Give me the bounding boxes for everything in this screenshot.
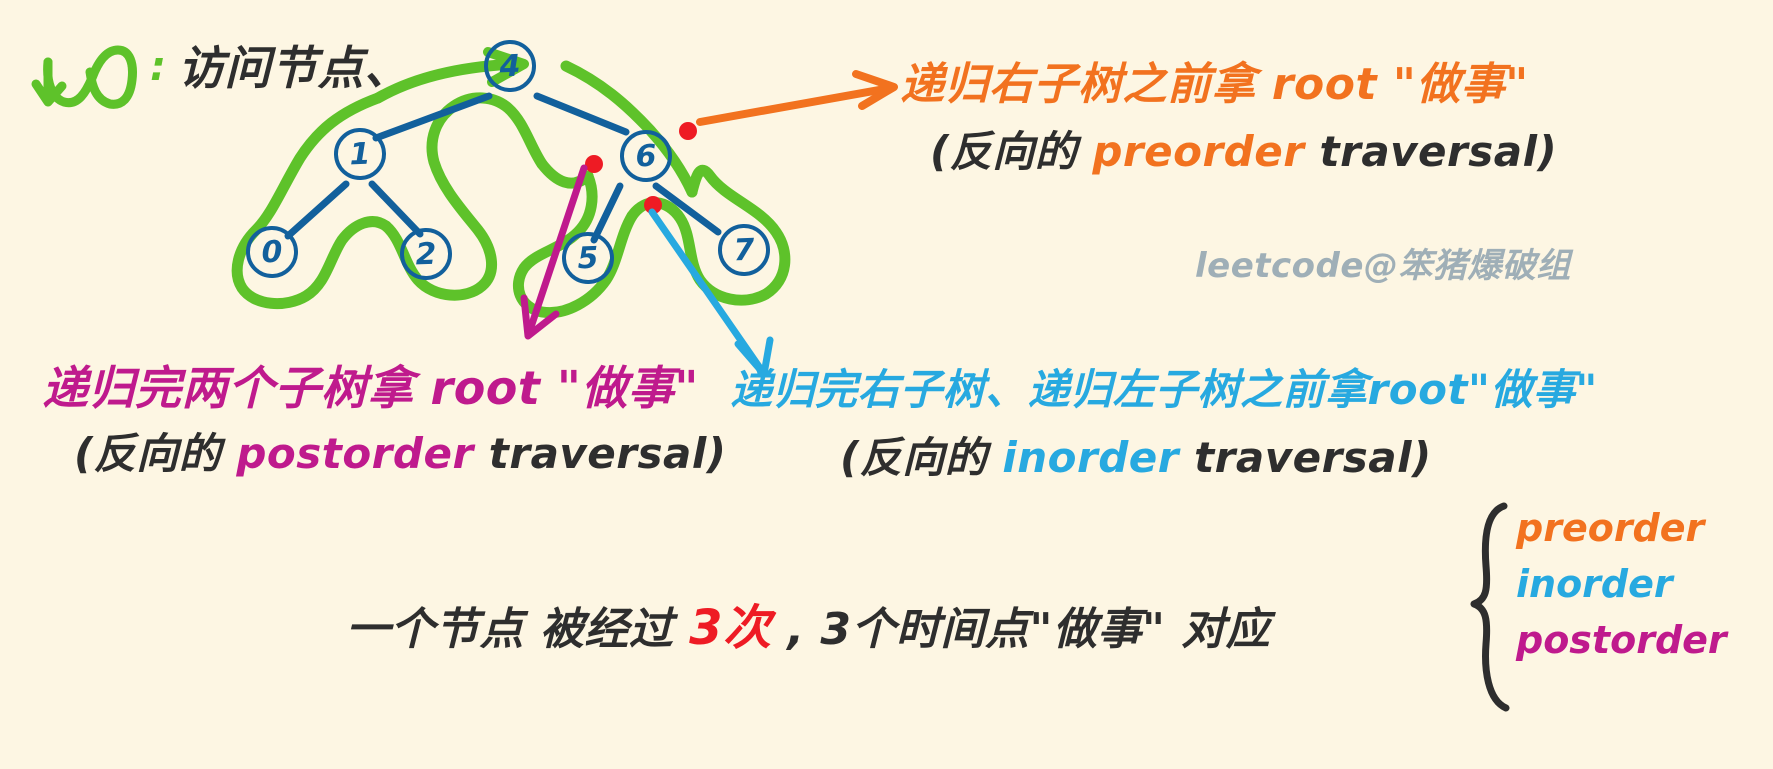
notebook-canvas: 4 1 6 0 2 5 7 : 访问节点、 递归右子树之前拿 r [0, 0, 1773, 769]
order-item-preorder: preorder [1516, 506, 1727, 550]
order-item-inorder: inorder [1516, 562, 1727, 606]
order-list: preorder inorder postorder [1516, 506, 1727, 662]
order-item-postorder: postorder [1516, 618, 1727, 662]
brace-icon [0, 0, 1773, 769]
